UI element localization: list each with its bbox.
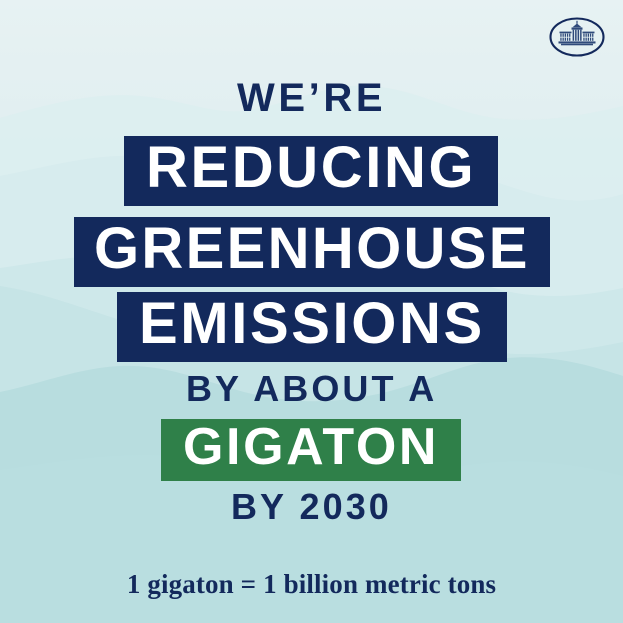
headline-line-reducing: REDUCING [124,136,498,206]
headline-line-gigaton: GIGATON [161,419,461,481]
headline-line-were: WE’RE [237,78,386,118]
poster-canvas: WE’RE REDUCING GREENHOUSE EMISSIONS BY A… [0,0,623,623]
headline-stack: WE’RE REDUCING GREENHOUSE EMISSIONS BY A… [0,0,623,623]
headline-line-by-2030: BY 2030 [231,489,392,525]
footnote-definition: 1 gigaton = 1 billion metric tons [0,569,623,600]
headline-line-greenhouse: GREENHOUSE [74,217,550,287]
headline-line-emissions: EMISSIONS [117,292,507,362]
headline-line-by-about-a: BY ABOUT A [186,371,437,407]
